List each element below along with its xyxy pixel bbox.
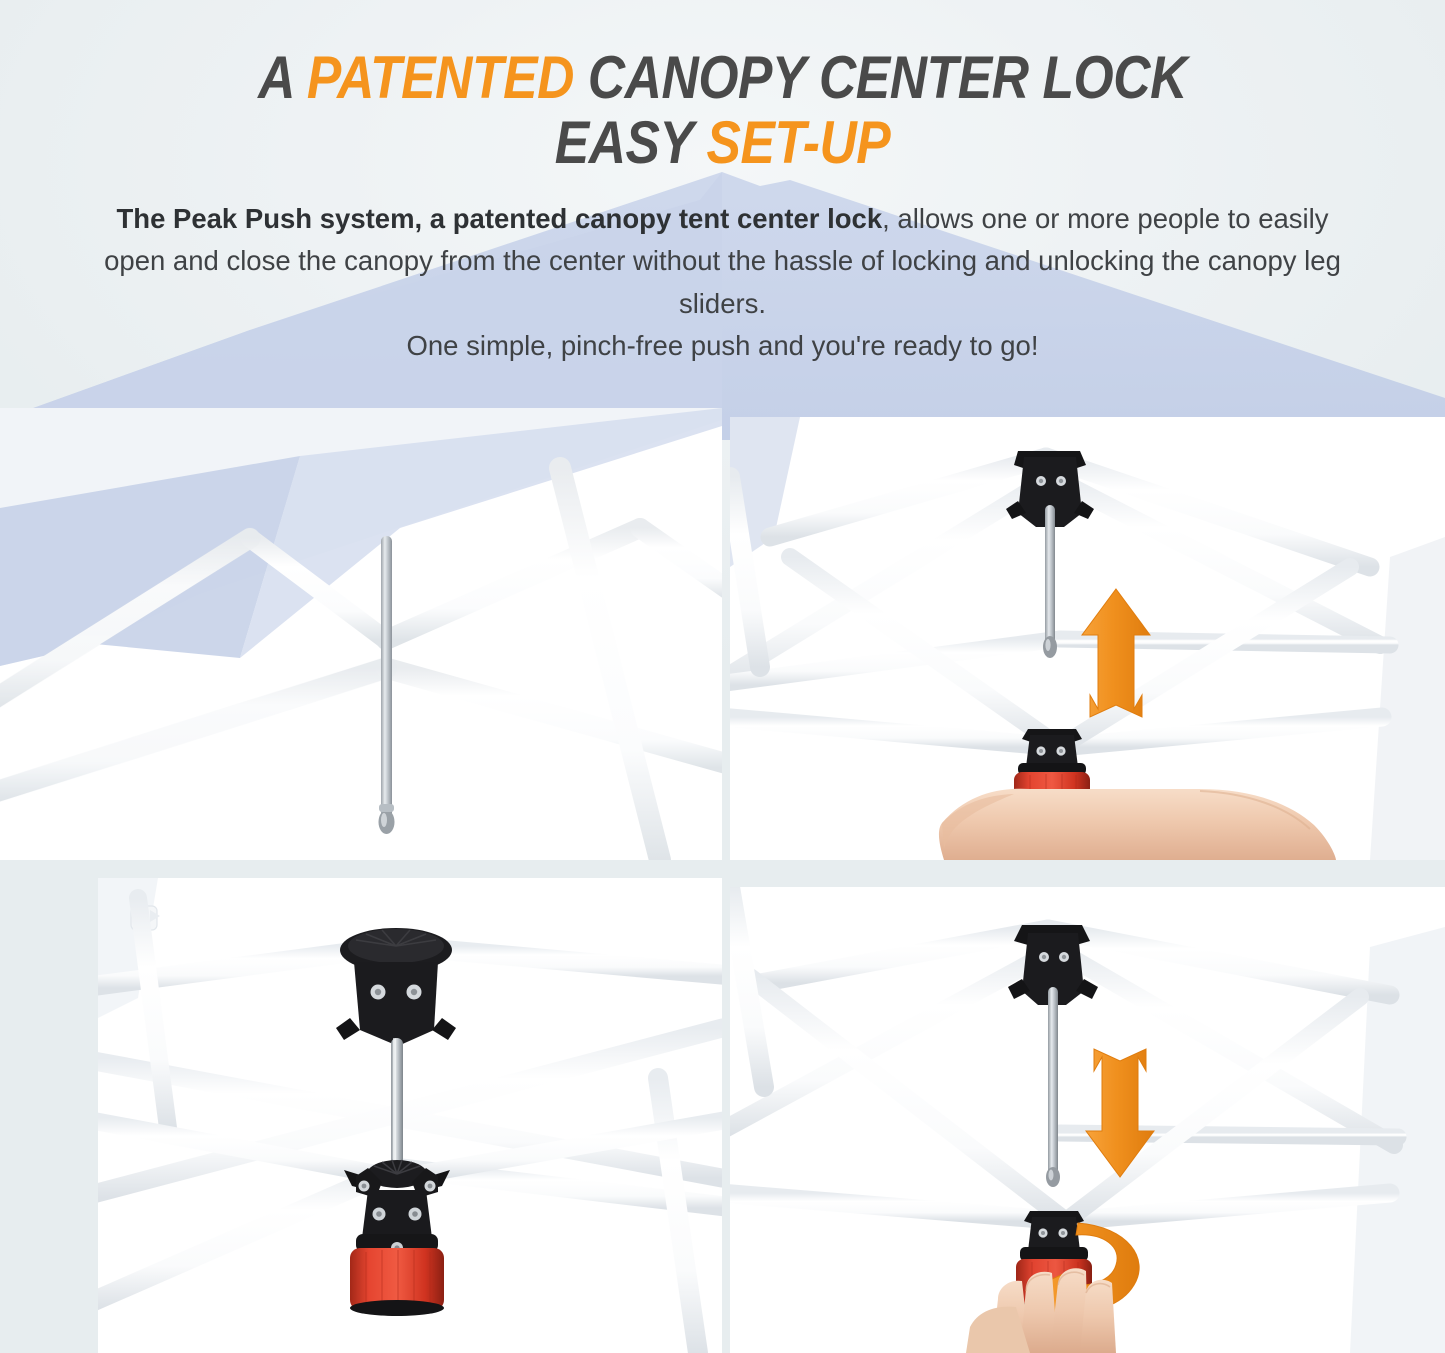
- body-closing-line: One simple, pinch-free push and you're r…: [406, 330, 1038, 361]
- panel-bottom-right-image: [730, 887, 1445, 1353]
- headline-text-easy: EASY: [555, 109, 707, 176]
- headline-accent-setup: SET-UP: [706, 109, 890, 176]
- center-lock-hub-bottom-left: [344, 1160, 450, 1316]
- panel-top-left-image: [0, 408, 722, 860]
- panel-bottom-left-image: [98, 878, 722, 1353]
- photo-grid: [0, 400, 1445, 1353]
- body-bold-lead: The Peak Push system, a patented canopy …: [116, 203, 882, 234]
- infographic-page: A PATENTED CANOPY CENTER LOCK EASY SET-U…: [0, 0, 1445, 1353]
- headline-text-canopy-center-lock: CANOPY CENTER LOCK: [574, 44, 1187, 111]
- header: A PATENTED CANOPY CENTER LOCK EASY SET-U…: [0, 46, 1445, 368]
- push-rod-extended: [391, 1038, 403, 1172]
- push-rod-bottom-right: [1046, 987, 1060, 1187]
- panel-top-left: [0, 408, 722, 860]
- headline-line-2: EASY SET-UP: [101, 111, 1344, 176]
- panel-top-right-image: [730, 417, 1445, 860]
- headline-line-1: A PATENTED CANOPY CENTER LOCK: [101, 46, 1344, 111]
- headline-text-a: A: [258, 44, 307, 111]
- body-paragraph: The Peak Push system, a patented canopy …: [85, 198, 1360, 369]
- push-rod-top-right: [1043, 505, 1057, 658]
- panel-bottom-left: [98, 878, 722, 1353]
- headline-accent-patented: PATENTED: [307, 44, 574, 111]
- panel-top-right: [730, 417, 1445, 860]
- panel-bottom-right: [730, 887, 1445, 1353]
